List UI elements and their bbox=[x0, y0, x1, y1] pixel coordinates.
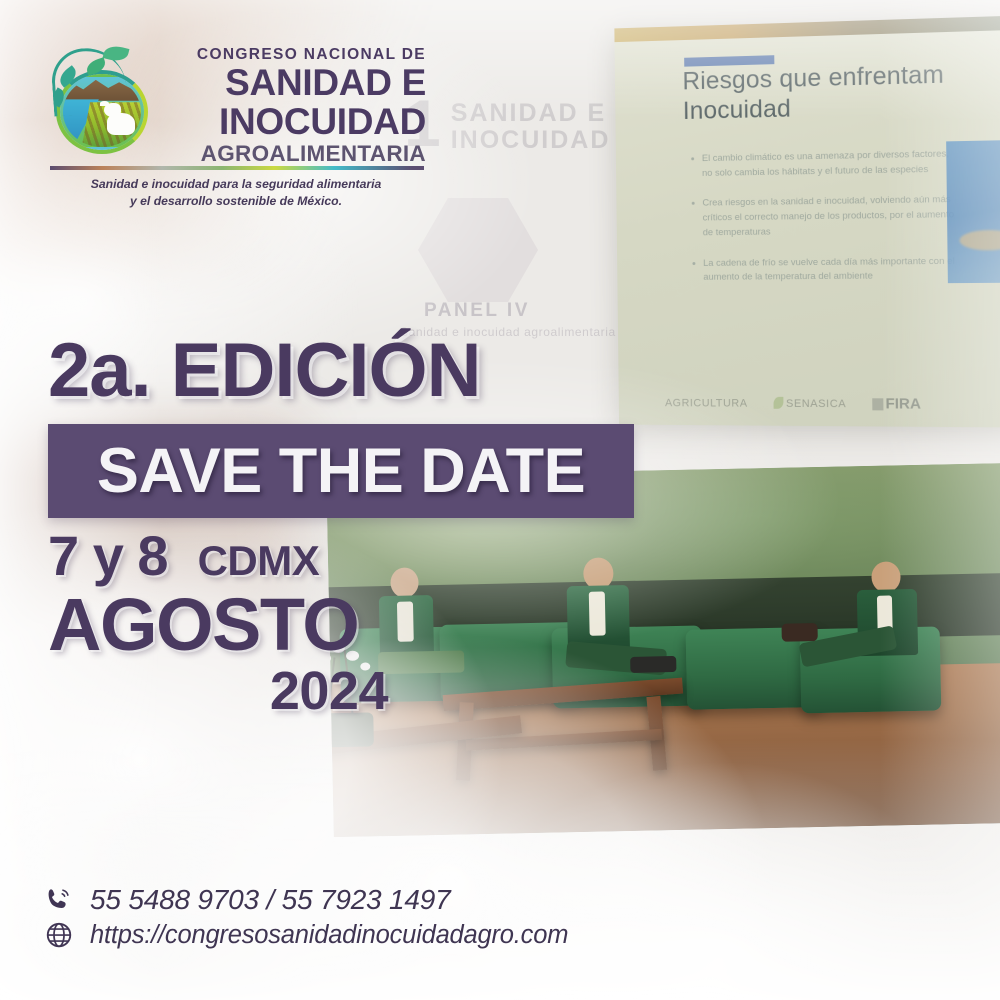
slide-title: Riesgos que enfrentam Inocuidad bbox=[682, 58, 1000, 126]
contact-website-text: https://congresosanidadinocuidadagro.com bbox=[90, 921, 568, 950]
square-icon bbox=[872, 398, 883, 410]
sponsor-logo-senasica: SENASICA bbox=[773, 397, 846, 410]
event-year: 2024 bbox=[48, 664, 388, 718]
logo-tagline: Sanidad e inocuidad para la seguridad al… bbox=[46, 176, 426, 210]
leaf-icon bbox=[773, 397, 783, 409]
poster-canvas: Riesgos que enfrentam Inocuidad El cambi… bbox=[0, 0, 1000, 1000]
phone-icon bbox=[44, 885, 74, 915]
slide-sponsor-logos: AGRICULTURA SENASICA FIRA bbox=[665, 394, 1000, 413]
logo-line-top: CONGRESO NACIONAL DE bbox=[154, 46, 426, 63]
watermark-line-2: INOCUIDAD bbox=[451, 127, 611, 154]
logo-wordmark: CONGRESO NACIONAL DE SANIDAD E INOCUIDAD… bbox=[154, 46, 426, 167]
background-watermark: 1 SANIDAD E INOCUIDAD bbox=[404, 96, 610, 154]
contact-website-row[interactable]: https://congresosanidadinocuidadagro.com bbox=[44, 920, 684, 950]
slide-bullet: La cadena de frío se vuelve cada día más… bbox=[692, 254, 960, 286]
sponsor-logo-agricultura: AGRICULTURA bbox=[665, 397, 748, 409]
event-days: 7 y 8 bbox=[48, 528, 168, 584]
event-city: CDMX bbox=[198, 540, 320, 582]
panel-label: PANEL IV bbox=[424, 300, 530, 322]
logo-tagline-line-1: Sanidad e inocuidad para la seguridad al… bbox=[46, 176, 426, 193]
slide-bullet-list: El cambio climático es una amenaza por d… bbox=[691, 147, 960, 301]
event-month: AGOSTO bbox=[48, 588, 448, 662]
globe-icon bbox=[44, 920, 74, 950]
date-row-days-city: 7 y 8 CDMX bbox=[48, 528, 448, 584]
background-presentation-slide: Riesgos que enfrentam Inocuidad El cambi… bbox=[614, 15, 1000, 427]
contact-footer: 55 5488 9703 / 55 7923 1497 https://cong… bbox=[44, 884, 684, 954]
save-the-date-banner: SAVE THE DATE bbox=[48, 424, 634, 518]
logo-tagline-line-2: y el desarrollo sostenible de México. bbox=[46, 193, 426, 210]
contact-phone-row[interactable]: 55 5488 9703 / 55 7923 1497 bbox=[44, 884, 684, 916]
slide-inset-photo bbox=[946, 140, 1000, 283]
slide-bullet: El cambio climático es una amenaza por d… bbox=[691, 147, 959, 181]
logo-gradient-divider bbox=[50, 166, 424, 170]
save-the-date-text: SAVE THE DATE bbox=[48, 424, 634, 518]
emblem-icon bbox=[46, 48, 154, 158]
event-date-block: 7 y 8 CDMX AGOSTO 2024 bbox=[48, 528, 448, 718]
logo-line-main-1: SANIDAD E bbox=[154, 65, 426, 102]
contact-phone-text: 55 5488 9703 / 55 7923 1497 bbox=[90, 884, 451, 916]
slide-bullet: Crea riesgos en la sanidad e inocuidad, … bbox=[692, 193, 960, 241]
sponsor-logo-fira: FIRA bbox=[872, 395, 921, 412]
watermark-line-1: SANIDAD E bbox=[451, 100, 611, 127]
watermark-text: SANIDAD E INOCUIDAD bbox=[451, 96, 611, 154]
logo-line-sub: AGROALIMENTARIA bbox=[154, 142, 426, 167]
edition-heading: 2a. EDICIÓN bbox=[48, 333, 480, 409]
logo-line-main-2: INOCUIDAD bbox=[154, 104, 426, 141]
